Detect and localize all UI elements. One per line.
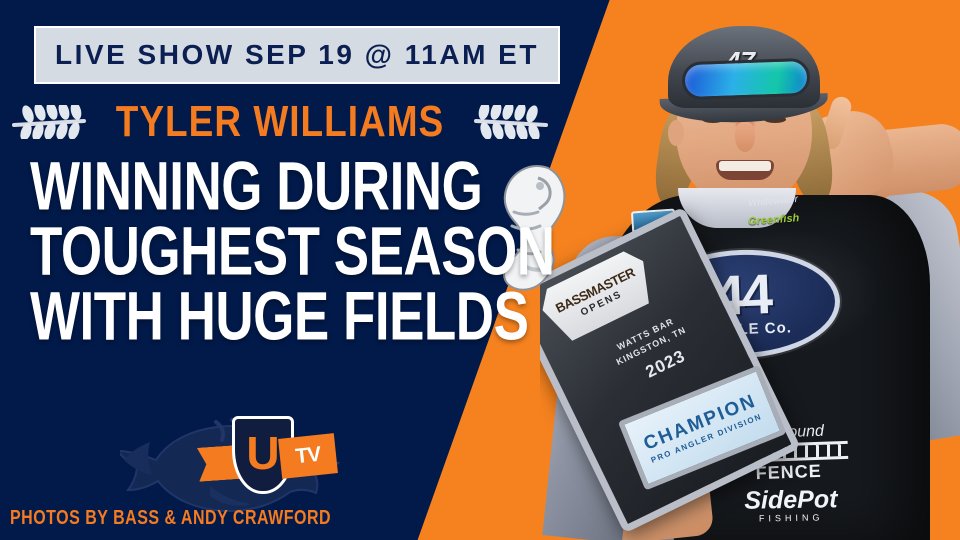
logo-letter: U bbox=[246, 430, 279, 476]
angler-photo: Tyler Williams Whitewater Greenfish 44 T… bbox=[540, 0, 960, 540]
ear bbox=[668, 120, 684, 146]
sidepot-logo: SidePot FISHING bbox=[726, 487, 857, 524]
mouth bbox=[716, 160, 774, 180]
brand-logo: U TV bbox=[120, 402, 390, 512]
teeth bbox=[719, 161, 771, 171]
nose bbox=[735, 122, 755, 152]
logo-tv-text: TV bbox=[294, 443, 321, 469]
live-show-text: LIVE SHOW SEP 19 @ 11AM ET bbox=[55, 39, 539, 71]
guest-name-row: TYLER WILLIAMS bbox=[0, 96, 560, 148]
headline-line-3: WITH HUGE FIELDS bbox=[30, 286, 550, 349]
live-show-banner: LIVE SHOW SEP 19 @ 11AM ET bbox=[34, 26, 560, 84]
laurel-right-icon bbox=[468, 105, 552, 139]
photo-credit: PHOTOS BY BASS & ANDY CRAWFORD bbox=[10, 508, 331, 531]
laurel-left-icon bbox=[8, 105, 92, 139]
sunglasses bbox=[681, 58, 810, 100]
headline: WINNING DURING TOUGHEST SEASON WITH HUGE… bbox=[30, 156, 550, 350]
logo-tv-tag: TV bbox=[278, 433, 338, 479]
headline-line-2: TOUGHEST SEASON bbox=[30, 221, 550, 284]
thumbnail-canvas: Tyler Williams Whitewater Greenfish 44 T… bbox=[0, 0, 960, 540]
headline-line-1: WINNING DURING bbox=[30, 156, 550, 219]
sidepot-wordmark: SidePot bbox=[726, 487, 856, 514]
guest-name: TYLER WILLIAMS bbox=[116, 97, 444, 147]
